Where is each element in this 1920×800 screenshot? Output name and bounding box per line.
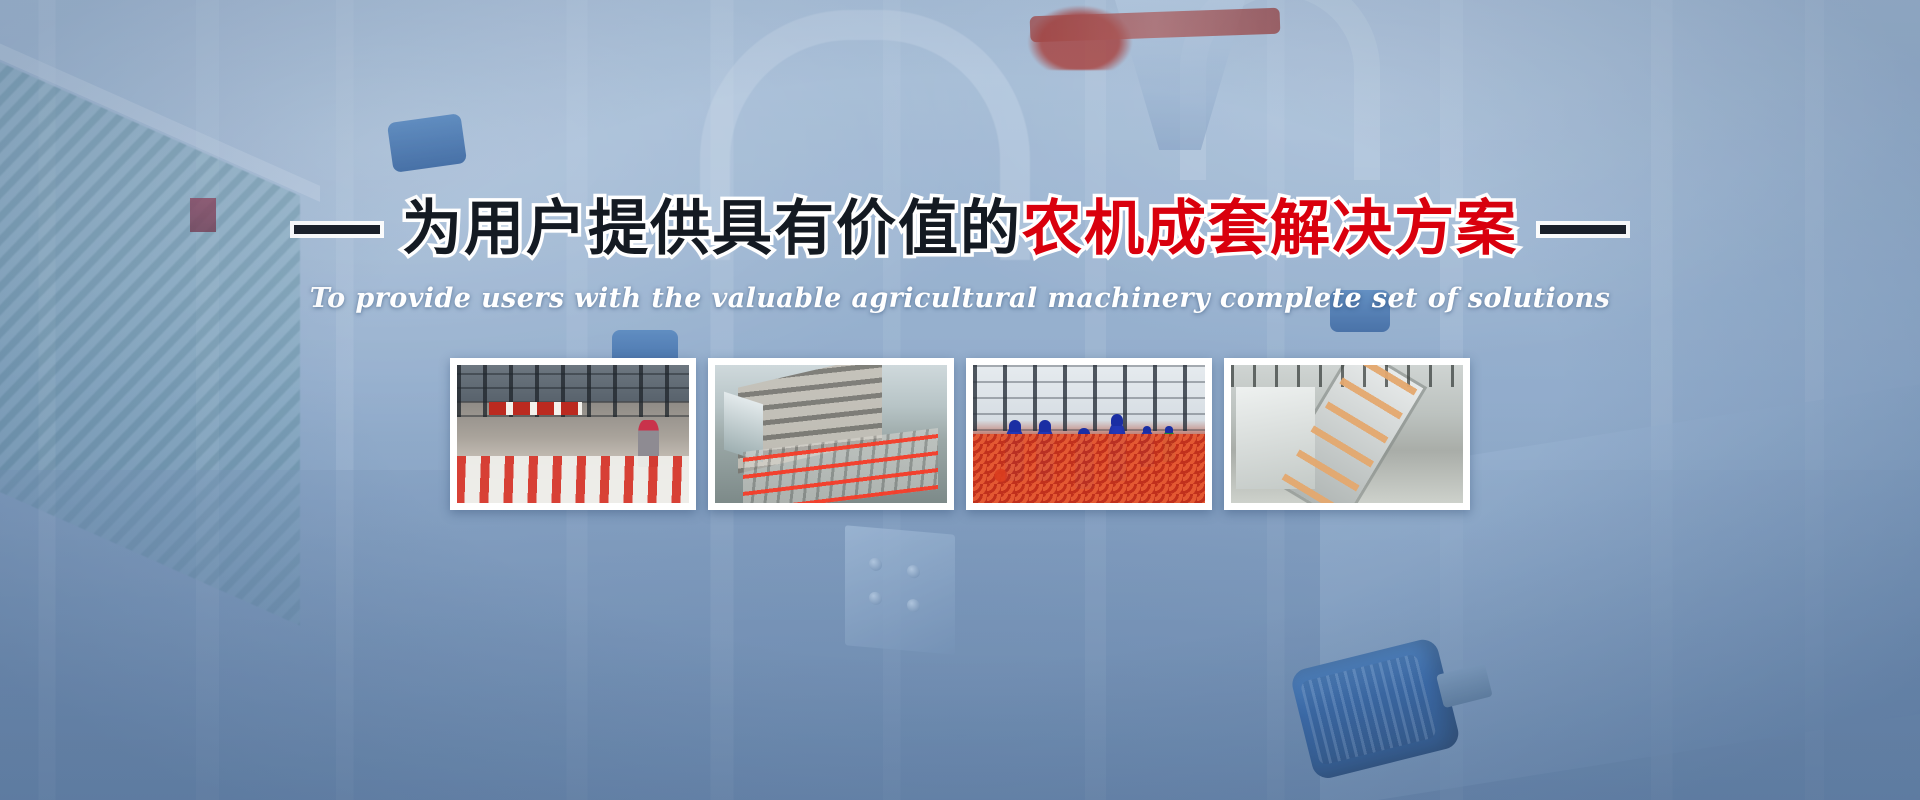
- worker-figure-icon: [1075, 437, 1094, 489]
- page-subtitle: To provide users with the valuable agric…: [0, 283, 1920, 314]
- factory-drying-hall-image: [457, 365, 689, 503]
- hero-banner: 为用户提供具有价值的农机成套解决方案 To provide users with…: [0, 0, 1920, 800]
- headline-primary-text: 为用户提供具有价值的: [402, 194, 1022, 264]
- duct-icon: [724, 392, 763, 463]
- thumbnail-item-2[interactable]: [708, 358, 954, 510]
- headline-left-rule: [294, 225, 380, 234]
- ginger-bucket-conveyor-image: [1231, 365, 1463, 503]
- worker-figure-icon: [1108, 423, 1127, 481]
- worker-figure-icon: [1036, 428, 1055, 480]
- slat-dryer-conveyor-image: [715, 365, 947, 503]
- banner-sign-icon: [489, 402, 582, 414]
- worker-figure-icon: [1140, 431, 1154, 467]
- thumbnail-strip: [450, 358, 1470, 510]
- roof-beams-icon: [1231, 365, 1463, 387]
- thumbnail-item-1[interactable]: [450, 358, 696, 510]
- dryer-cabinet-icon: [1236, 387, 1315, 489]
- headline-row: 为用户提供具有价值的农机成套解决方案: [0, 196, 1920, 263]
- headline-accent-text: 农机成套解决方案: [1022, 194, 1518, 264]
- worker-figure-icon: [638, 420, 659, 467]
- thumbnail-item-4[interactable]: [1224, 358, 1470, 510]
- page-title: 为用户提供具有价值的农机成套解决方案: [402, 196, 1518, 263]
- worker-figure-icon: [1005, 428, 1024, 480]
- chilli-spreading-workers-image: [973, 365, 1205, 503]
- headline-right-rule: [1540, 225, 1626, 234]
- thumbnail-item-3[interactable]: [966, 358, 1212, 510]
- worker-green-figure-icon: [1163, 431, 1175, 461]
